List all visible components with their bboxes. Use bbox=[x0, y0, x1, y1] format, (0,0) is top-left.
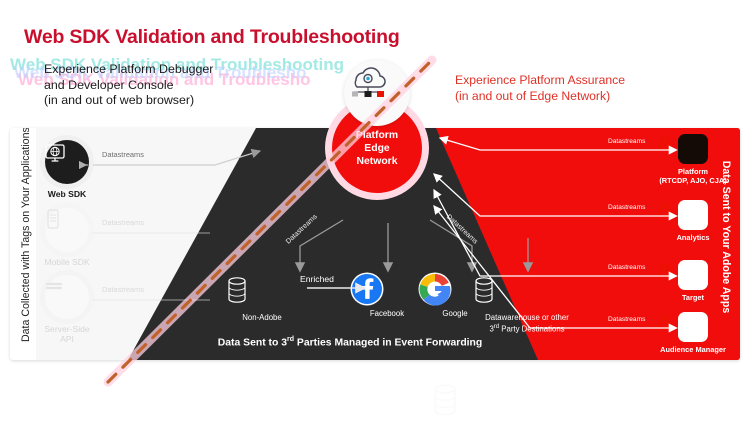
debugger-callout-line3: (in and out of web browser) bbox=[44, 93, 213, 109]
edge-network-label-line1: Platform bbox=[356, 130, 398, 141]
edge-network-cloud-icon bbox=[344, 60, 388, 100]
edge-network-label-line3: Network bbox=[357, 156, 398, 167]
debugger-callout-line2: and Developer Console bbox=[44, 78, 213, 94]
debugger-callout: Experience Platform Debugger and Develop… bbox=[44, 62, 213, 109]
assurance-callout-line2: (in and out of Edge Network) bbox=[455, 88, 625, 104]
assurance-callout: Experience Platform Assurance (in and ou… bbox=[455, 72, 625, 104]
assurance-callout-line1: Experience Platform Assurance bbox=[455, 72, 625, 88]
page-title: Web SDK Validation and Troubleshooting bbox=[24, 26, 400, 49]
slide-canvas: Web SDK Validation and Troubleshooting W… bbox=[0, 0, 750, 421]
edge-network-label: Platform Edge Network bbox=[356, 129, 398, 168]
platform-edge-network-node[interactable]: Platform Edge Network bbox=[325, 96, 429, 200]
edge-network-cloud-badge bbox=[344, 60, 410, 126]
debugger-callout-line1: Experience Platform Debugger bbox=[44, 62, 213, 78]
ghost-database-icon bbox=[428, 383, 462, 417]
edge-network-label-line2: Edge bbox=[364, 143, 389, 154]
